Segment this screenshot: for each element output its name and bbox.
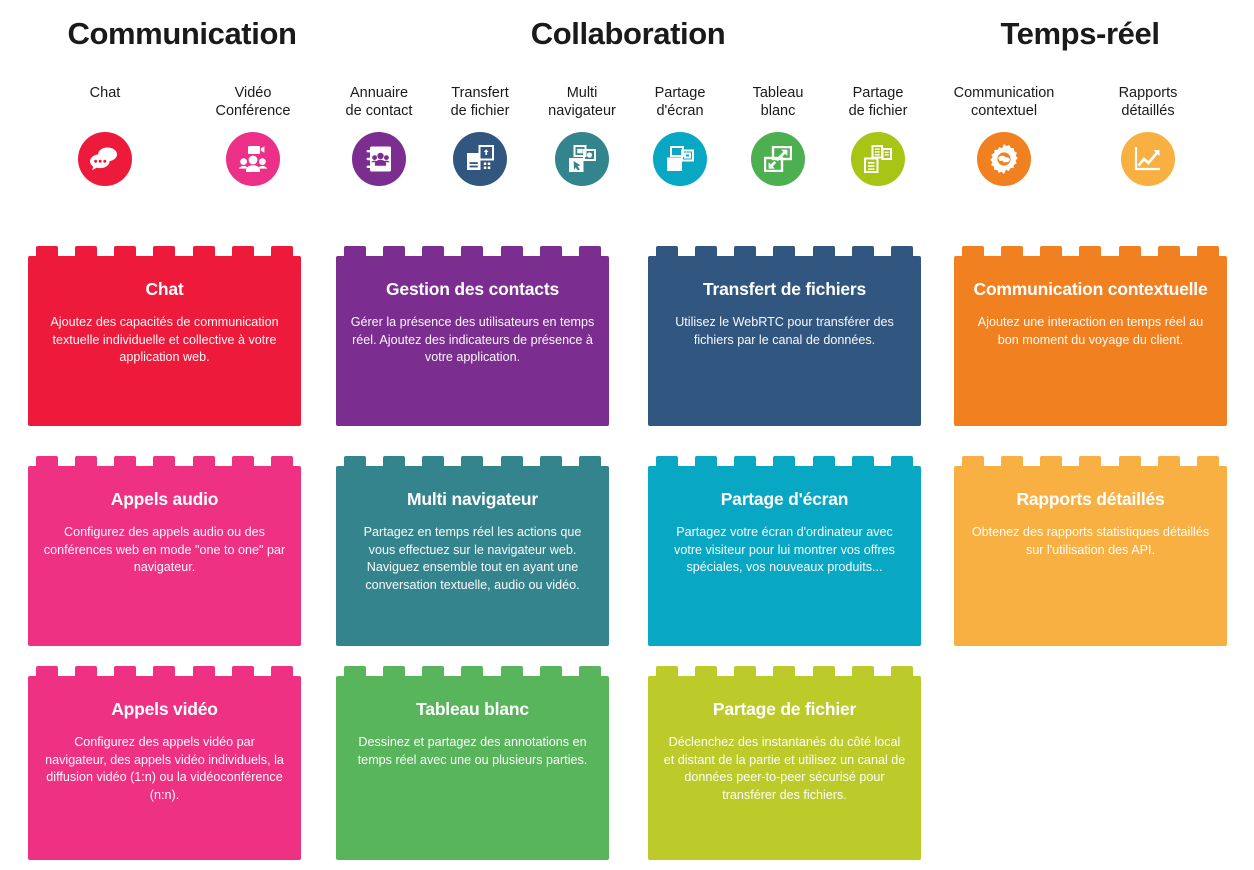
card-title: Gestion des contacts — [350, 278, 595, 300]
card-body: Appels vidéoConfigurez des appels vidéo … — [28, 676, 301, 860]
brick-stud — [271, 246, 293, 256]
brick-studs — [336, 246, 609, 256]
brick-stud — [422, 456, 444, 466]
feature-card[interactable]: Partage d'écranPartagez votre écran d'or… — [648, 456, 921, 646]
brick-stud — [540, 246, 562, 256]
brick-stud — [852, 246, 874, 256]
brick-studs — [28, 456, 301, 466]
brick-stud — [153, 456, 175, 466]
brick-stud — [75, 666, 97, 676]
brick-studs — [954, 246, 1227, 256]
feature-column[interactable]: Transfert de fichier — [421, 84, 539, 186]
brick-studs — [954, 456, 1227, 466]
file-share-icon[interactable] — [851, 132, 905, 186]
feature-icon-wrapper — [421, 132, 539, 186]
video-group-icon[interactable] — [226, 132, 280, 186]
brick-stud — [501, 246, 523, 256]
card-title: Appels vidéo — [42, 698, 287, 720]
brick-stud — [1197, 456, 1219, 466]
brick-stud — [579, 246, 601, 256]
card-description: Configurez des appels audio ou des confé… — [42, 524, 287, 577]
card-description: Configurez des appels vidéo par navigate… — [42, 734, 287, 804]
brick-stud — [1079, 246, 1101, 256]
brick-stud — [232, 246, 254, 256]
brick-stud — [773, 246, 795, 256]
brick-stud — [540, 456, 562, 466]
brick-stud — [193, 456, 215, 466]
feature-icon-wrapper — [1089, 132, 1207, 186]
brick-stud — [461, 246, 483, 256]
brick-stud — [193, 666, 215, 676]
feature-column[interactable]: Vidéo Conférence — [194, 84, 312, 186]
brick-stud — [813, 666, 835, 676]
brick-studs — [648, 246, 921, 256]
card-title: Rapports détaillés — [968, 488, 1213, 510]
feature-card[interactable]: Appels vidéoConfigurez des appels vidéo … — [28, 666, 301, 860]
brick-stud — [695, 666, 717, 676]
card-body: Appels audioConfigurez des appels audio … — [28, 466, 301, 646]
brick-stud — [891, 456, 913, 466]
card-title: Chat — [42, 278, 287, 300]
brick-studs — [648, 666, 921, 676]
brick-stud — [36, 666, 58, 676]
card-description: Gérer la présence des utilisateurs en te… — [350, 314, 595, 367]
brick-stud — [962, 456, 984, 466]
brick-stud — [271, 456, 293, 466]
feature-label: Chat — [46, 84, 164, 120]
brick-stud — [114, 246, 136, 256]
card-description: Dessinez et partagez des annotations en … — [350, 734, 595, 769]
card-description: Obtenez des rapports statistiques détail… — [968, 524, 1213, 559]
brick-stud — [193, 246, 215, 256]
card-description: Partagez en temps réel les actions que v… — [350, 524, 595, 594]
brick-stud — [114, 666, 136, 676]
feature-column[interactable]: Chat — [46, 84, 164, 186]
feature-card[interactable]: Communication contextuelleAjoutez une in… — [954, 246, 1227, 426]
brick-stud — [344, 456, 366, 466]
card-title: Partage d'écran — [662, 488, 907, 510]
brick-stud — [383, 246, 405, 256]
brick-stud — [153, 246, 175, 256]
brick-stud — [579, 666, 601, 676]
brick-studs — [28, 246, 301, 256]
brick-stud — [75, 456, 97, 466]
brick-stud — [1119, 456, 1141, 466]
brick-stud — [344, 246, 366, 256]
brick-stud — [1119, 246, 1141, 256]
card-body: ChatAjoutez des capacités de communicati… — [28, 256, 301, 426]
feature-icon-wrapper — [46, 132, 164, 186]
section-title: Collaboration — [531, 16, 726, 52]
card-title: Partage de fichier — [662, 698, 907, 720]
brick-stud — [1001, 246, 1023, 256]
brick-stud — [734, 246, 756, 256]
card-title: Tableau blanc — [350, 698, 595, 720]
feature-icon-wrapper — [945, 132, 1063, 186]
card-body: Transfert de fichiersUtilisez le WebRTC … — [648, 256, 921, 426]
brick-stud — [656, 246, 678, 256]
brick-stud — [501, 666, 523, 676]
card-body: Partage de fichierDéclenchez des instant… — [648, 676, 921, 860]
brick-stud — [773, 666, 795, 676]
brick-stud — [232, 456, 254, 466]
feature-column[interactable]: Rapports détaillés — [1089, 84, 1207, 186]
feature-label: Partage de fichier — [819, 84, 937, 120]
feature-card[interactable]: Rapports détaillésObtenez des rapports s… — [954, 456, 1227, 646]
brick-stud — [36, 246, 58, 256]
feature-column[interactable]: Communication contextuel — [945, 84, 1063, 186]
feature-label: Communication contextuel — [945, 84, 1063, 120]
multi-browser-icon[interactable] — [555, 132, 609, 186]
brick-stud — [540, 666, 562, 676]
brick-stud — [734, 666, 756, 676]
card-body: Rapports détaillésObtenez des rapports s… — [954, 466, 1227, 646]
card-body: Communication contextuelleAjoutez une in… — [954, 256, 1227, 426]
feature-card[interactable]: Tableau blancDessinez et partagez des an… — [336, 666, 609, 860]
brick-stud — [852, 666, 874, 676]
brick-stud — [813, 456, 835, 466]
screen-share-icon[interactable] — [653, 132, 707, 186]
feature-card[interactable]: Multi navigateurPartagez en temps réel l… — [336, 456, 609, 646]
brick-stud — [1197, 246, 1219, 256]
brick-stud — [422, 246, 444, 256]
feature-icon-wrapper — [194, 132, 312, 186]
brick-stud — [891, 246, 913, 256]
feature-label: Transfert de fichier — [421, 84, 539, 120]
card-description: Déclenchez des instantanés du côté local… — [662, 734, 907, 804]
card-title: Appels audio — [42, 488, 287, 510]
brick-stud — [383, 666, 405, 676]
brick-stud — [344, 666, 366, 676]
feature-label: Vidéo Conférence — [194, 84, 312, 120]
card-description: Partagez votre écran d'ordinateur avec v… — [662, 524, 907, 577]
feature-card[interactable]: Partage de fichierDéclenchez des instant… — [648, 666, 921, 860]
card-title: Communication contextuelle — [968, 278, 1213, 300]
brick-stud — [501, 456, 523, 466]
gear-chat-icon[interactable] — [977, 132, 1031, 186]
brick-stud — [579, 456, 601, 466]
brick-stud — [114, 456, 136, 466]
brick-studs — [336, 456, 609, 466]
brick-stud — [695, 456, 717, 466]
brick-stud — [734, 456, 756, 466]
feature-column[interactable]: Partage de fichier — [819, 84, 937, 186]
brick-studs — [648, 456, 921, 466]
feature-label: Rapports détaillés — [1089, 84, 1207, 120]
brick-stud — [232, 666, 254, 676]
whiteboard-icon[interactable] — [751, 132, 805, 186]
brick-stud — [461, 666, 483, 676]
feature-card[interactable]: Transfert de fichiersUtilisez le WebRTC … — [648, 246, 921, 426]
feature-card[interactable]: ChatAjoutez des capacités de communicati… — [28, 246, 301, 426]
contact-directory-icon[interactable] — [352, 132, 406, 186]
card-description: Ajoutez des capacités de communication t… — [42, 314, 287, 367]
infographic-page: CommunicationCollaborationTemps-réel Cha… — [0, 0, 1254, 870]
brick-stud — [891, 666, 913, 676]
brick-stud — [461, 456, 483, 466]
brick-stud — [656, 456, 678, 466]
brick-stud — [852, 456, 874, 466]
brick-stud — [695, 246, 717, 256]
feature-icon-wrapper — [819, 132, 937, 186]
card-body: Multi navigateurPartagez en temps réel l… — [336, 466, 609, 646]
section-title: Communication — [67, 16, 296, 52]
section-title: Temps-réel — [1000, 16, 1159, 52]
file-transfer-icon[interactable] — [453, 132, 507, 186]
brick-stud — [36, 456, 58, 466]
card-title: Multi navigateur — [350, 488, 595, 510]
brick-stud — [153, 666, 175, 676]
card-body: Partage d'écranPartagez votre écran d'or… — [648, 466, 921, 646]
brick-studs — [28, 666, 301, 676]
brick-stud — [271, 666, 293, 676]
card-body: Gestion des contactsGérer la présence de… — [336, 256, 609, 426]
brick-studs — [336, 666, 609, 676]
chart-line-icon[interactable] — [1121, 132, 1175, 186]
brick-stud — [1079, 456, 1101, 466]
card-description: Utilisez le WebRTC pour transférer des f… — [662, 314, 907, 349]
brick-stud — [1001, 456, 1023, 466]
brick-stud — [1158, 246, 1180, 256]
brick-stud — [656, 666, 678, 676]
chat-bubbles-icon[interactable] — [78, 132, 132, 186]
card-body: Tableau blancDessinez et partagez des an… — [336, 676, 609, 860]
brick-stud — [773, 456, 795, 466]
brick-stud — [1158, 456, 1180, 466]
card-title: Transfert de fichiers — [662, 278, 907, 300]
brick-stud — [1040, 456, 1062, 466]
brick-stud — [422, 666, 444, 676]
brick-stud — [1040, 246, 1062, 256]
feature-card[interactable]: Gestion des contactsGérer la présence de… — [336, 246, 609, 426]
brick-stud — [75, 246, 97, 256]
feature-card[interactable]: Appels audioConfigurez des appels audio … — [28, 456, 301, 646]
brick-stud — [813, 246, 835, 256]
brick-stud — [383, 456, 405, 466]
card-description: Ajoutez une interaction en temps réel au… — [968, 314, 1213, 349]
brick-stud — [962, 246, 984, 256]
